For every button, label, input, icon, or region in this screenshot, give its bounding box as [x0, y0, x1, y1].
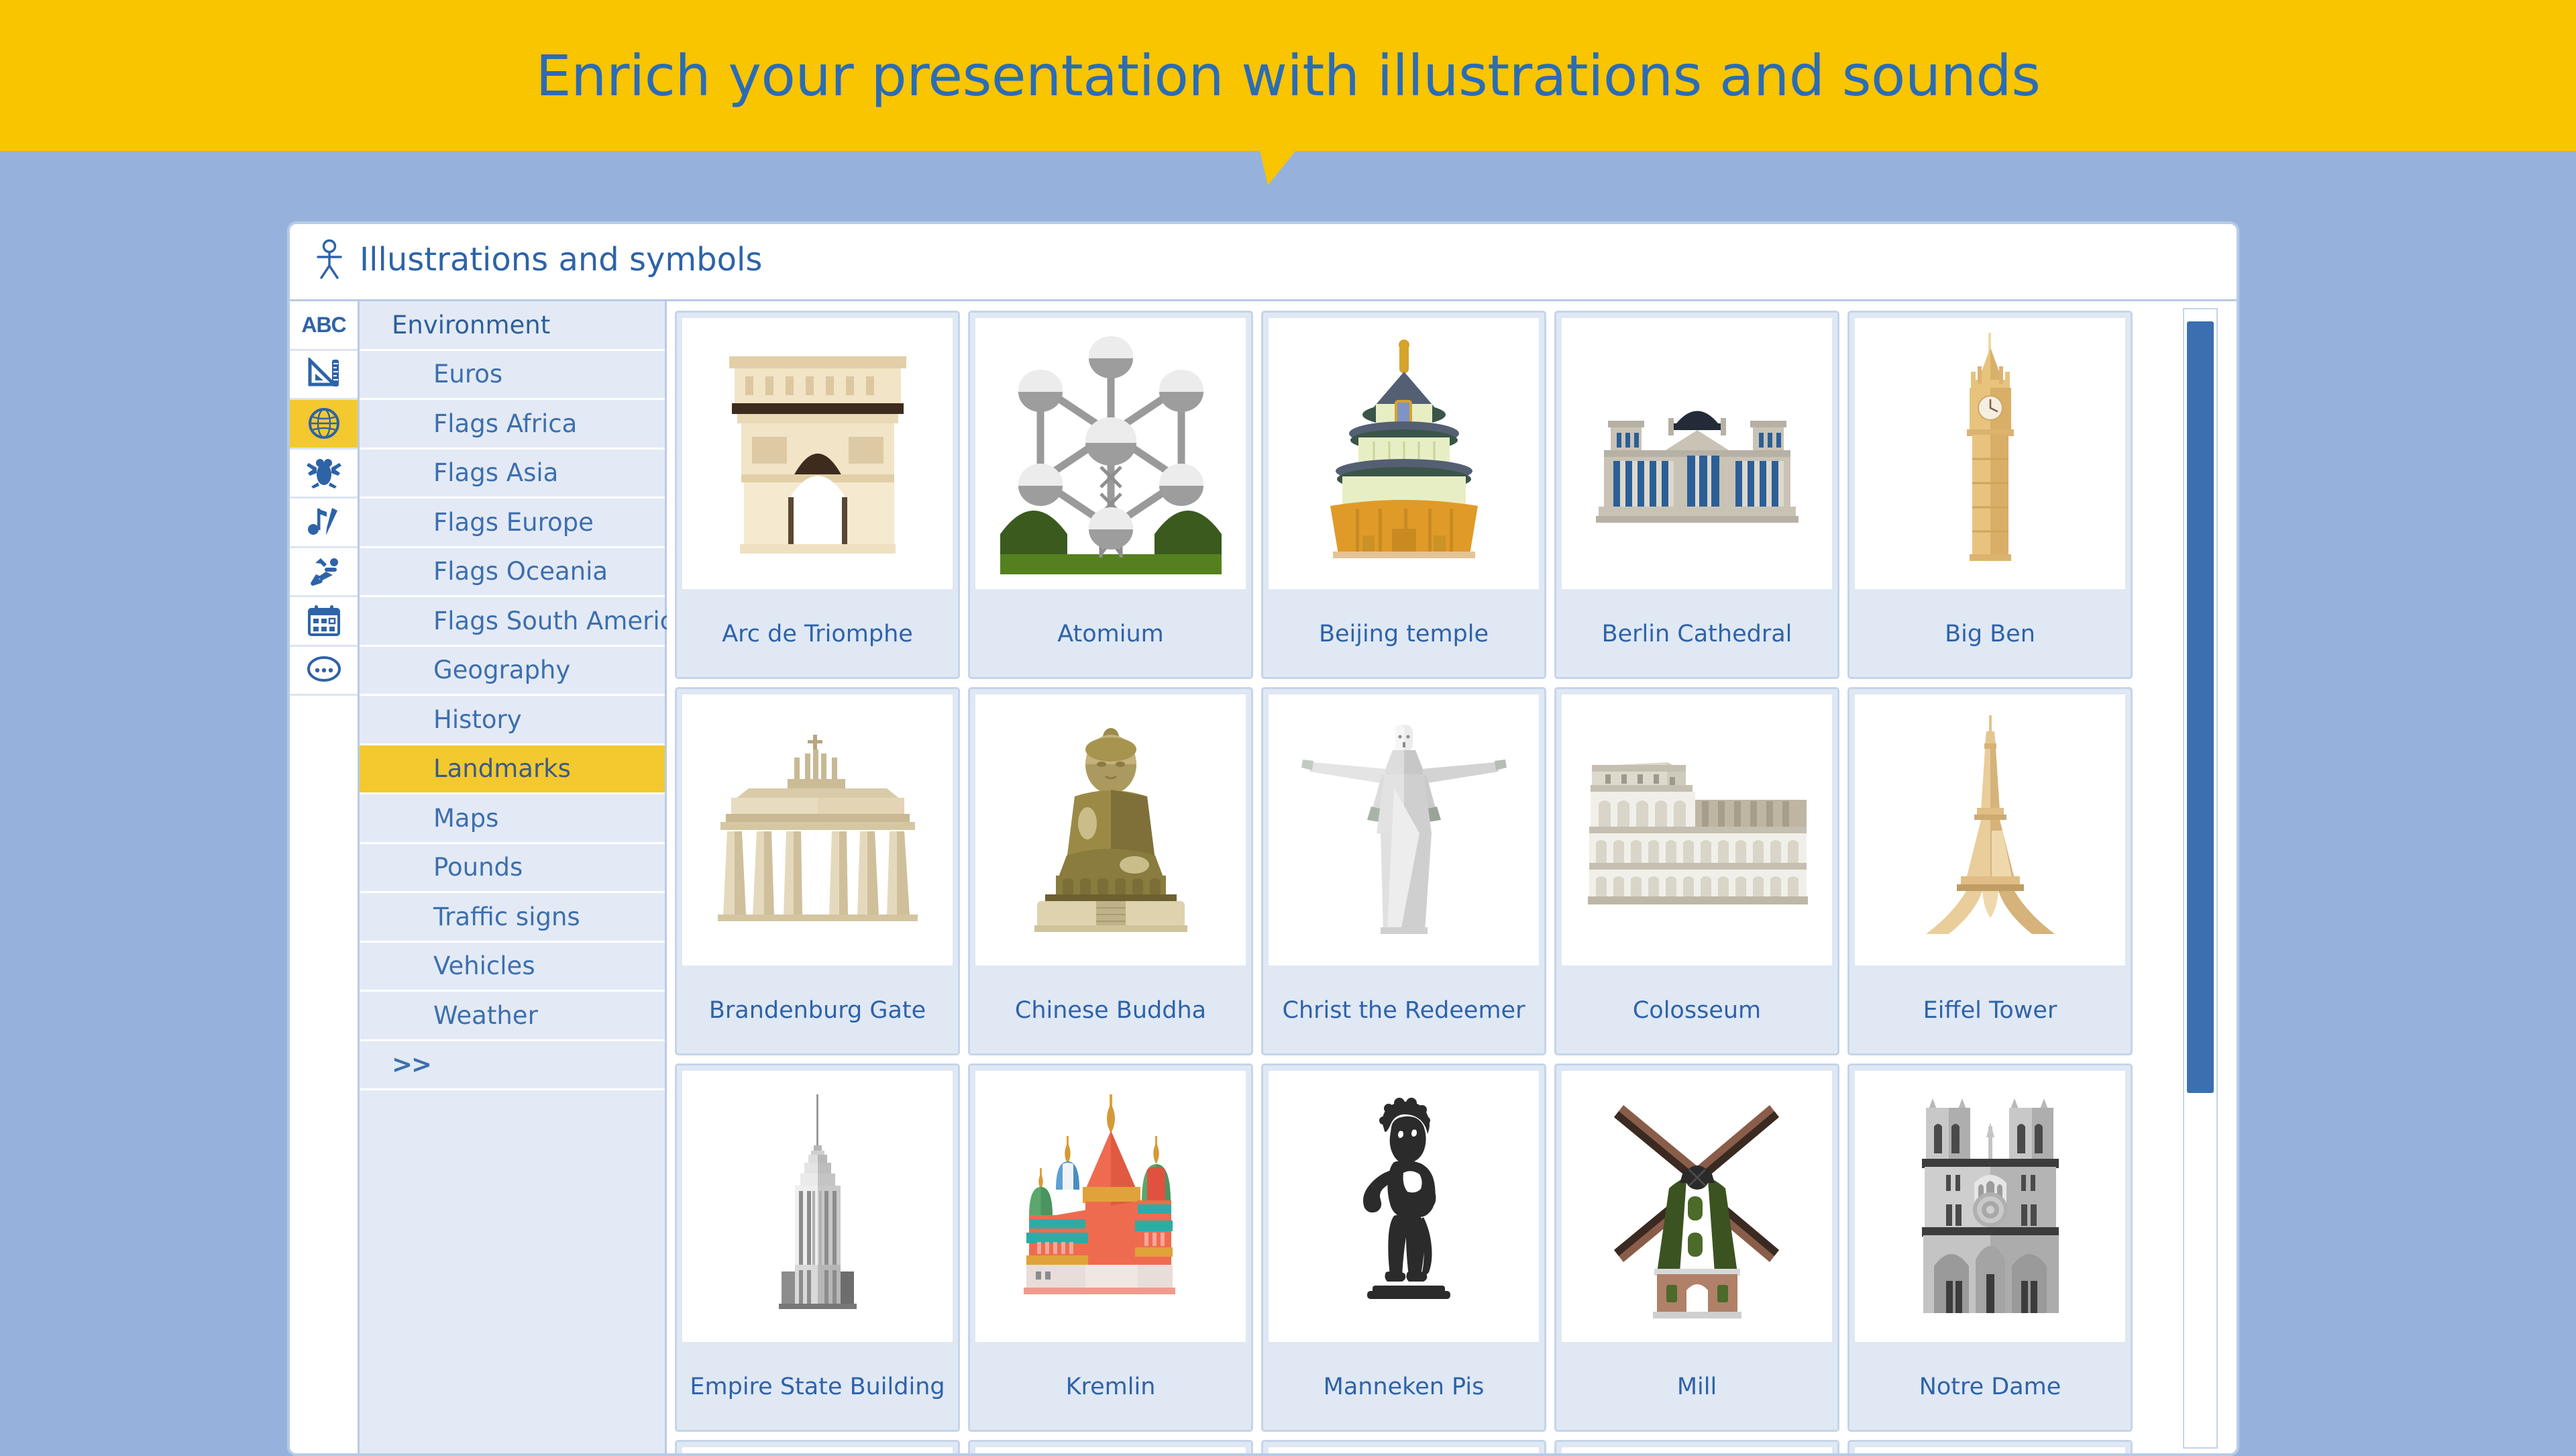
- illustration-label: Empire State Building: [677, 1344, 958, 1430]
- rail-item-sports[interactable]: [290, 548, 358, 598]
- category-item-flags-europe[interactable]: Flags Europe: [360, 499, 665, 548]
- dialog-title-group: Illustrations and symbols: [314, 239, 762, 280]
- illustration-label: Chinese Buddha: [970, 968, 1251, 1053]
- illustration-thumb-placeholder: [1267, 1445, 1541, 1453]
- illustration-label: Manneken Pis: [1263, 1344, 1544, 1430]
- eiffel-tower-illustration: [1853, 692, 2127, 968]
- category-root-environment[interactable]: Environment: [360, 301, 665, 351]
- illustration-tile[interactable]: Mill: [1554, 1063, 1839, 1432]
- illustration-tile[interactable]: Beijing temple: [1261, 311, 1546, 679]
- rail-item-environment[interactable]: [290, 400, 358, 450]
- illustration-tile[interactable]: Arc de Triomphe: [675, 311, 960, 679]
- illustration-thumb-placeholder: [973, 1445, 1248, 1453]
- rail-item-arts[interactable]: [290, 499, 358, 548]
- illustration-tile[interactable]: Brandenburg Gate: [675, 687, 960, 1055]
- category-item-euros[interactable]: Euros: [360, 351, 665, 401]
- christ-the-redeemer-illustration: [1267, 692, 1541, 968]
- category-item-geography[interactable]: Geography: [360, 647, 665, 696]
- banner-callout-tail: [1260, 150, 1296, 185]
- ruler-triangle-icon: [307, 358, 341, 391]
- illustration-label: Christ the Redeemer: [1263, 968, 1544, 1053]
- chinese-buddha-illustration: [973, 692, 1248, 968]
- rail-item-calendar[interactable]: [290, 597, 358, 647]
- illustration-tile[interactable]: [675, 1440, 960, 1453]
- illustrations-dialog: Illustrations and symbols: [287, 221, 2239, 1456]
- brandenburg-gate-illustration: [680, 692, 955, 968]
- mill-illustration: [1560, 1069, 1834, 1344]
- illustration-tile[interactable]: [1554, 1440, 1839, 1453]
- illustration-label: Colosseum: [1556, 968, 1837, 1053]
- illustration-tile[interactable]: Manneken Pis: [1261, 1063, 1546, 1432]
- running-person-icon: [306, 556, 342, 587]
- illustration-grid-pane: Arc de Triomphe: [667, 299, 2237, 1453]
- illustration-tile[interactable]: Chinese Buddha: [968, 687, 1253, 1055]
- illustration-label: Kremlin: [970, 1344, 1251, 1430]
- big-ben-illustration: [1853, 316, 2127, 591]
- illustration-label: Big Ben: [1849, 591, 2131, 677]
- illustration-label: Mill: [1556, 1344, 1837, 1430]
- frog-icon: [306, 457, 342, 489]
- manneken-pis-illustration: [1267, 1069, 1541, 1344]
- kremlin-illustration: [973, 1069, 1248, 1344]
- calendar-icon: [307, 605, 341, 637]
- speech-bubble-icon: [307, 656, 341, 685]
- atomium-illustration: [973, 316, 1248, 591]
- illustration-grid: Arc de Triomphe: [675, 311, 2144, 1453]
- illustration-tile[interactable]: Notre Dame: [1847, 1063, 2133, 1432]
- illustration-tile[interactable]: [1261, 1440, 1546, 1453]
- dialog-title: Illustrations and symbols: [360, 241, 762, 278]
- notre-dame-illustration: [1853, 1069, 2127, 1344]
- illustration-label: Arc de Triomphe: [677, 591, 958, 677]
- dialog-body: ABC: [290, 299, 2237, 1453]
- banner-title: Enrich your presentation with illustrati…: [0, 0, 2576, 151]
- category-item-flags-oceania[interactable]: Flags Oceania: [360, 548, 665, 598]
- category-item-maps[interactable]: Maps: [360, 794, 665, 844]
- illustration-tile[interactable]: [968, 1440, 1253, 1453]
- berlin-cathedral-illustration: [1560, 316, 1834, 591]
- illustration-tile[interactable]: Atomium: [968, 311, 1253, 679]
- illustration-tile[interactable]: Eiffel Tower: [1847, 687, 2133, 1055]
- category-more-button[interactable]: >>: [360, 1041, 665, 1091]
- category-icon-rail: ABC: [290, 299, 360, 1453]
- grid-scrollbar[interactable]: [2183, 308, 2218, 1449]
- beijing-temple-illustration: [1267, 316, 1541, 591]
- illustration-label: Notre Dame: [1849, 1344, 2131, 1430]
- rail-item-math[interactable]: [290, 351, 358, 401]
- illustration-thumb-placeholder: [1560, 1445, 1834, 1453]
- category-item-pounds[interactable]: Pounds: [360, 844, 665, 894]
- illustration-tile[interactable]: Christ the Redeemer: [1261, 687, 1546, 1055]
- category-item-weather[interactable]: Weather: [360, 992, 665, 1041]
- rail-item-more[interactable]: [290, 647, 358, 696]
- illustration-label: Beijing temple: [1263, 591, 1544, 677]
- illustration-tile: Berlin Cathedral: [1554, 311, 1839, 679]
- illustration-tile[interactable]: Kremlin: [968, 1063, 1253, 1432]
- banner: Enrich your presentation with illustrati…: [0, 0, 2576, 151]
- rail-item-abc[interactable]: ABC: [290, 301, 358, 351]
- category-list: Environment Euros Flags Africa Flags Asi…: [360, 299, 667, 1453]
- category-item-flags-africa[interactable]: Flags Africa: [360, 400, 665, 450]
- category-item-flags-south-america[interactable]: Flags South America: [360, 597, 665, 647]
- illustration-label: Berlin Cathedral: [1556, 591, 1837, 677]
- dialog-header: Illustrations and symbols: [290, 224, 2237, 299]
- category-item-flags-asia[interactable]: Flags Asia: [360, 450, 665, 499]
- rail-item-animals[interactable]: [290, 450, 358, 499]
- music-note-paintbrush-icon: [307, 505, 341, 539]
- colosseum-illustration: [1560, 692, 1834, 968]
- illustration-tile[interactable]: Colosseum: [1554, 687, 1839, 1055]
- abc-icon: ABC: [301, 313, 345, 337]
- globe-icon: [307, 406, 341, 441]
- category-item-vehicles[interactable]: Vehicles: [360, 943, 665, 992]
- category-item-history[interactable]: History: [360, 696, 665, 745]
- category-item-traffic-signs[interactable]: Traffic signs: [360, 893, 665, 943]
- illustration-label: Eiffel Tower: [1849, 968, 2131, 1053]
- arc-de-triomphe-illustration: [680, 316, 955, 591]
- illustration-tile[interactable]: Empire State Building: [675, 1063, 960, 1432]
- illustration-label: Brandenburg Gate: [677, 968, 958, 1053]
- illustration-label: Atomium: [970, 591, 1251, 677]
- category-item-landmarks[interactable]: Landmarks: [360, 745, 665, 795]
- stick-figure-icon: [314, 239, 345, 280]
- illustration-tile[interactable]: [1847, 1440, 2133, 1453]
- illustration-tile[interactable]: Big Ben: [1847, 311, 2133, 679]
- grid-scrollbar-thumb[interactable]: [2187, 321, 2214, 1093]
- illustration-thumb-placeholder: [680, 1445, 955, 1453]
- empire-state-building-illustration: [680, 1069, 955, 1344]
- illustration-thumb-placeholder: [1853, 1445, 2127, 1453]
